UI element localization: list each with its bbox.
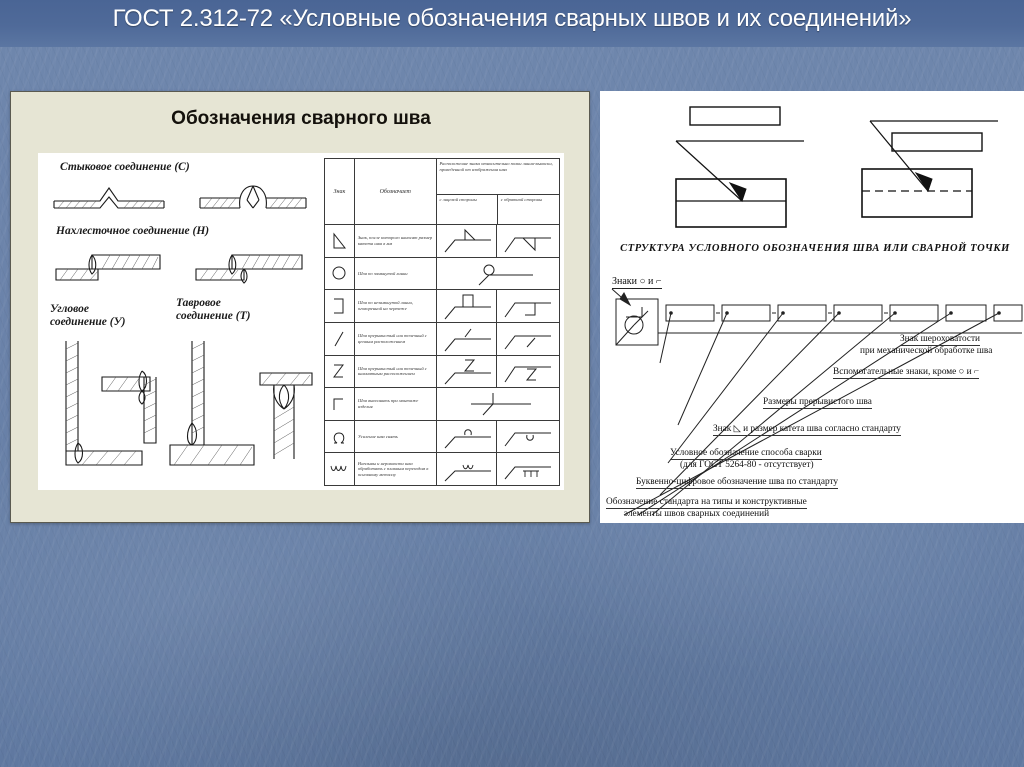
butt-joint-drawing bbox=[52, 181, 314, 217]
row-means: Наплывы и неровности шва обработать с пл… bbox=[355, 453, 437, 485]
row-means: Шов выполнить при монтаже изделия bbox=[355, 388, 437, 420]
header-means: Обозначает bbox=[355, 159, 437, 224]
leader-example-back bbox=[858, 113, 1008, 233]
row-back-symbol bbox=[497, 356, 559, 388]
wave-icon bbox=[325, 453, 355, 485]
callout-welding-method: Условное обозначение способа сварки (для… bbox=[670, 448, 822, 471]
row-back-symbol bbox=[497, 290, 559, 322]
flag-icon bbox=[325, 388, 355, 420]
joint-label-lap: Нахлесточное соединение (Н) bbox=[56, 225, 209, 238]
left-panel-card: Стыковое соединение (С) bbox=[38, 153, 564, 490]
table-row: Шов по незамкнутой линии, оговоренной на… bbox=[325, 290, 559, 323]
structure-title: СТРУКТУРА УСЛОВНОГО ОБОЗНАЧЕНИЯ ШВА ИЛИ … bbox=[610, 243, 1020, 254]
joint-illustrations: Стыковое соединение (С) bbox=[38, 153, 320, 490]
row-back-symbol bbox=[497, 323, 559, 355]
row-span-symbol bbox=[437, 258, 559, 290]
callout-auxiliary: Вспомогательные знаки, кроме ○ и ⌐ bbox=[833, 367, 979, 379]
table-row: Знак, после которого наносят размер кате… bbox=[325, 225, 559, 258]
row-front-symbol bbox=[437, 290, 498, 322]
row-means: Знак, после которого наносят размер кате… bbox=[355, 225, 437, 257]
header-front-side: с лицевой стороны bbox=[437, 195, 498, 224]
table-row: Шов прерывистый или точечный с цепным ра… bbox=[325, 323, 559, 356]
header-back-side: с обратной стороны bbox=[498, 195, 559, 224]
omega-icon bbox=[325, 421, 355, 453]
leader-example-front bbox=[670, 101, 810, 231]
table-row: Шов прерывистый или точечный с шахматным… bbox=[325, 356, 559, 389]
row-front-symbol bbox=[437, 453, 498, 485]
callout-intermittent: Размеры прерывистого шва bbox=[763, 397, 872, 409]
header-position-group: Расположение знака относительно полки ли… bbox=[437, 159, 559, 224]
row-front-symbol bbox=[437, 225, 498, 257]
lap-joint-drawing bbox=[52, 247, 314, 293]
row-means: Шов по незамкнутой линии, оговоренной на… bbox=[355, 290, 437, 322]
callout-standard: Обозначение стандарта на типы и конструк… bbox=[606, 497, 807, 520]
slash-icon bbox=[325, 323, 355, 355]
table-row: Наплывы и неровности шва обработать с пл… bbox=[325, 453, 559, 485]
symbols-table-header: Знак Обозначает Расположение знака относ… bbox=[325, 159, 559, 225]
circle-icon bbox=[325, 258, 355, 290]
callout-roughness: Знак шероховатости при механической обра… bbox=[900, 334, 992, 357]
joint-label-butt: Стыковое соединение (С) bbox=[60, 161, 190, 174]
corner-tee-joint-drawing bbox=[46, 339, 316, 484]
row-back-symbol bbox=[497, 225, 559, 257]
row-means: Шов по замкнутой линии bbox=[355, 258, 437, 290]
row-means: Шов прерывистый или точечный с цепным ра… bbox=[355, 323, 437, 355]
joint-label-tee: Тавровое соединение (Т) bbox=[176, 297, 250, 323]
header-position: Расположение знака относительно полки ли… bbox=[437, 159, 559, 195]
zeta-icon bbox=[325, 356, 355, 388]
table-row: Усиление шва снять bbox=[325, 421, 559, 454]
left-panel: Обозначения сварного шва Стыковое соедин… bbox=[10, 91, 590, 523]
symbols-table: Знак Обозначает Расположение знака относ… bbox=[324, 158, 560, 486]
right-panel: СТРУКТУРА УСЛОВНОГО ОБОЗНАЧЕНИЯ ШВА ИЛИ … bbox=[600, 91, 1024, 523]
table-row: Шов по замкнутой линии bbox=[325, 258, 559, 291]
row-back-symbol bbox=[497, 453, 559, 485]
joint-label-corner: Угловое соединение (У) bbox=[50, 303, 125, 329]
header-sign: Знак bbox=[325, 159, 355, 224]
triangle-icon bbox=[325, 225, 355, 257]
row-back-symbol bbox=[497, 421, 559, 453]
row-front-symbol bbox=[437, 356, 498, 388]
row-means: Усиление шва снять bbox=[355, 421, 437, 453]
row-front-symbol bbox=[437, 323, 498, 355]
row-means: Шов прерывистый или точечный с шахматным… bbox=[355, 356, 437, 388]
left-panel-heading: Обозначения сварного шва bbox=[11, 108, 591, 130]
callout-leg-size: Знак ◺ и размер катета шва согласно стан… bbox=[713, 424, 901, 436]
table-row: Шов выполнить при монтаже изделия bbox=[325, 388, 559, 421]
row-front-symbol bbox=[437, 421, 498, 453]
page-title: ГОСТ 2.312-72 «Условные обозначения свар… bbox=[0, 5, 1024, 33]
callout-alphanumeric: Буквенно-цифровое обозначение шва по ста… bbox=[636, 477, 838, 489]
bracket-icon bbox=[325, 290, 355, 322]
row-span-symbol bbox=[437, 388, 559, 420]
